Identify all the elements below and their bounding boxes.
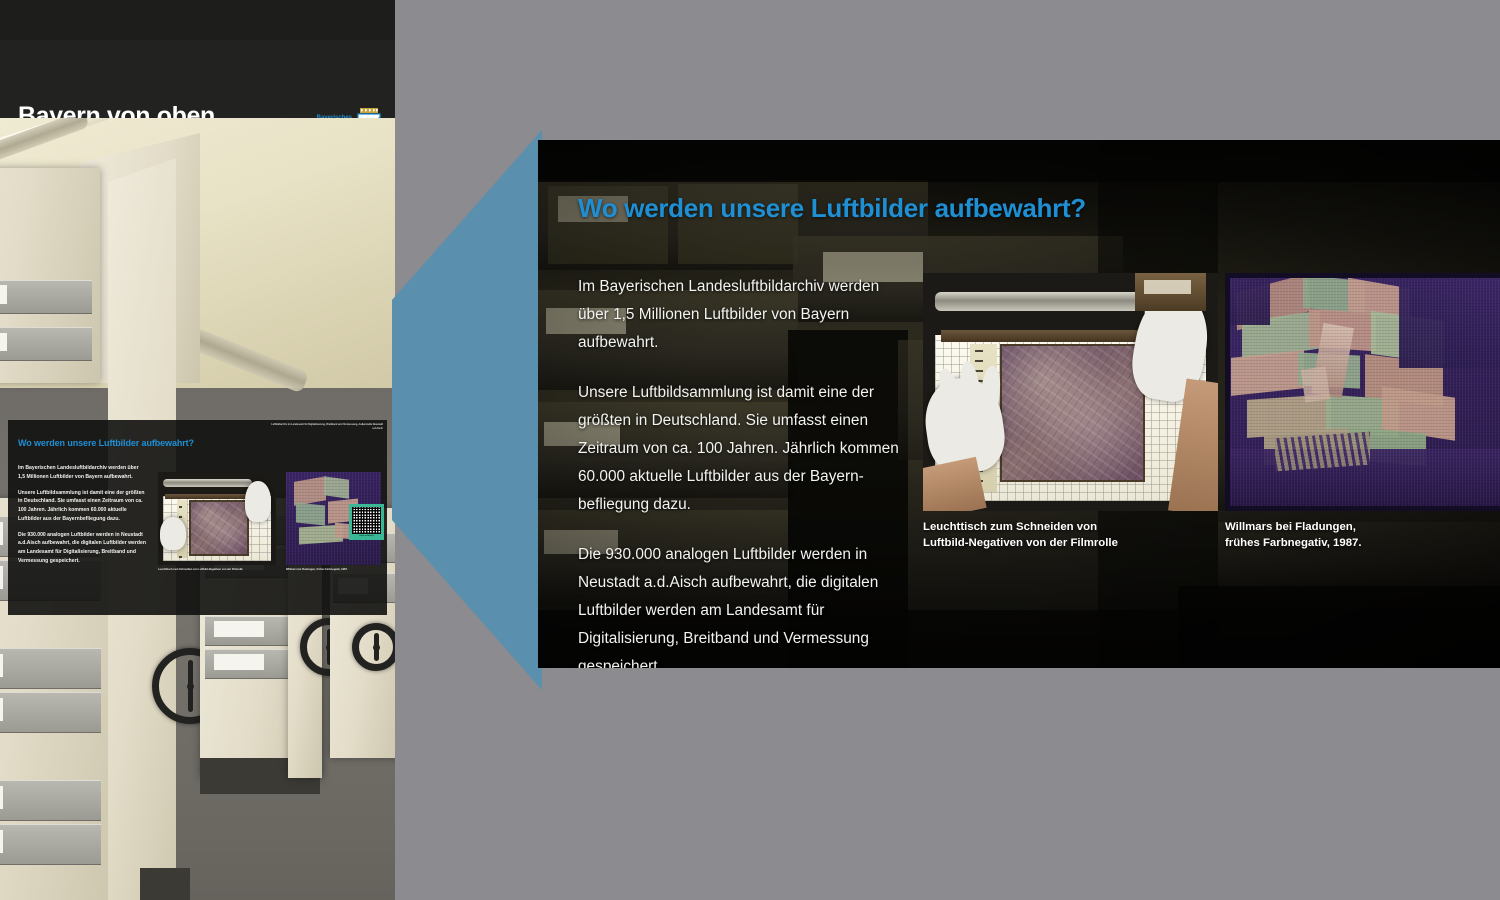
qr-code-sticker[interactable]: mehr erfahren <box>349 504 384 540</box>
poster-header: Bayern von oben Archiv Bayerisches Lande… <box>0 40 395 118</box>
qr-code-icon <box>352 507 381 534</box>
thumb-caption-right: Willmars bei Fladungen, frühes Farbnegat… <box>286 568 386 572</box>
detail-paragraph-1: Im Bayerischen Landesluftbildarchiv werd… <box>578 273 908 357</box>
thumb-paragraph-1: Im Bayerischen Landesluftbildarchiv werd… <box>18 464 146 482</box>
shelf-handwheel-far <box>352 623 395 671</box>
detail-panel-title: Wo werden unsere Luftbilder aufbewahrt? <box>578 193 1086 224</box>
photo-aerial-negative[interactable] <box>1225 273 1500 511</box>
caption-left-line1: Leuchttisch zum Schneiden von <box>923 519 1223 535</box>
shelf-base-front-2 <box>140 868 190 900</box>
archive-room-photo: Luftbildarchiv im Landesamt für Digitali… <box>0 118 395 900</box>
detail-panel-body: Im Bayerischen Landesluftbildarchiv werd… <box>578 273 908 668</box>
thumb-paragraph-2: Unsere Luftbildsammlung ist damit eine d… <box>18 489 146 524</box>
thumb-photo-lightbox <box>158 472 276 565</box>
thumb-paragraph-3: Die 930.000 analogen Luftbilder werden i… <box>18 531 146 566</box>
thumb-caption-left: Leuchttisch zum Schneiden von Luftbild-N… <box>158 568 278 572</box>
detail-panel: Wo werden unsere Luftbilder aufbewahrt? … <box>538 140 1500 668</box>
exhibit-board-title: Wo werden unsere Luftbilder aufbewahrt? <box>18 438 194 448</box>
qr-caption: mehr erfahren <box>352 535 381 537</box>
exhibit-board-thumbnail[interactable]: Luftbildarchiv im Landesamt für Digitali… <box>8 420 387 615</box>
photo-lightbox-caption: Leuchttisch zum Schneiden von Luftbild-N… <box>923 519 1223 551</box>
exhibit-board-body: Im Bayerischen Landesluftbildarchiv werd… <box>18 464 146 573</box>
caption-right-line1: Willmars bei Fladungen, <box>1225 519 1500 535</box>
exhibit-board-top-note: Luftbildarchiv im Landesamt für Digitali… <box>263 423 383 430</box>
exhibit-poster: Bayern von oben Archiv Bayerisches Lande… <box>0 0 395 900</box>
detail-paragraph-3: Die 930.000 analogen Luftbilder werden i… <box>578 541 908 668</box>
shelf-unit-left-upper <box>0 168 100 383</box>
photo-lightbox-negatives[interactable] <box>923 273 1218 511</box>
caption-left-line2: Luftbild-Negativen von der Filmrolle <box>923 535 1223 551</box>
zoom-connector-wedge <box>392 130 542 690</box>
caption-right-line2: frühes Farbnegativ, 1987. <box>1225 535 1500 551</box>
photo-aerial-caption: Willmars bei Fladungen, frühes Farbnegat… <box>1225 519 1500 551</box>
detail-paragraph-2: Unsere Luftbildsammlung ist damit eine d… <box>578 379 908 519</box>
